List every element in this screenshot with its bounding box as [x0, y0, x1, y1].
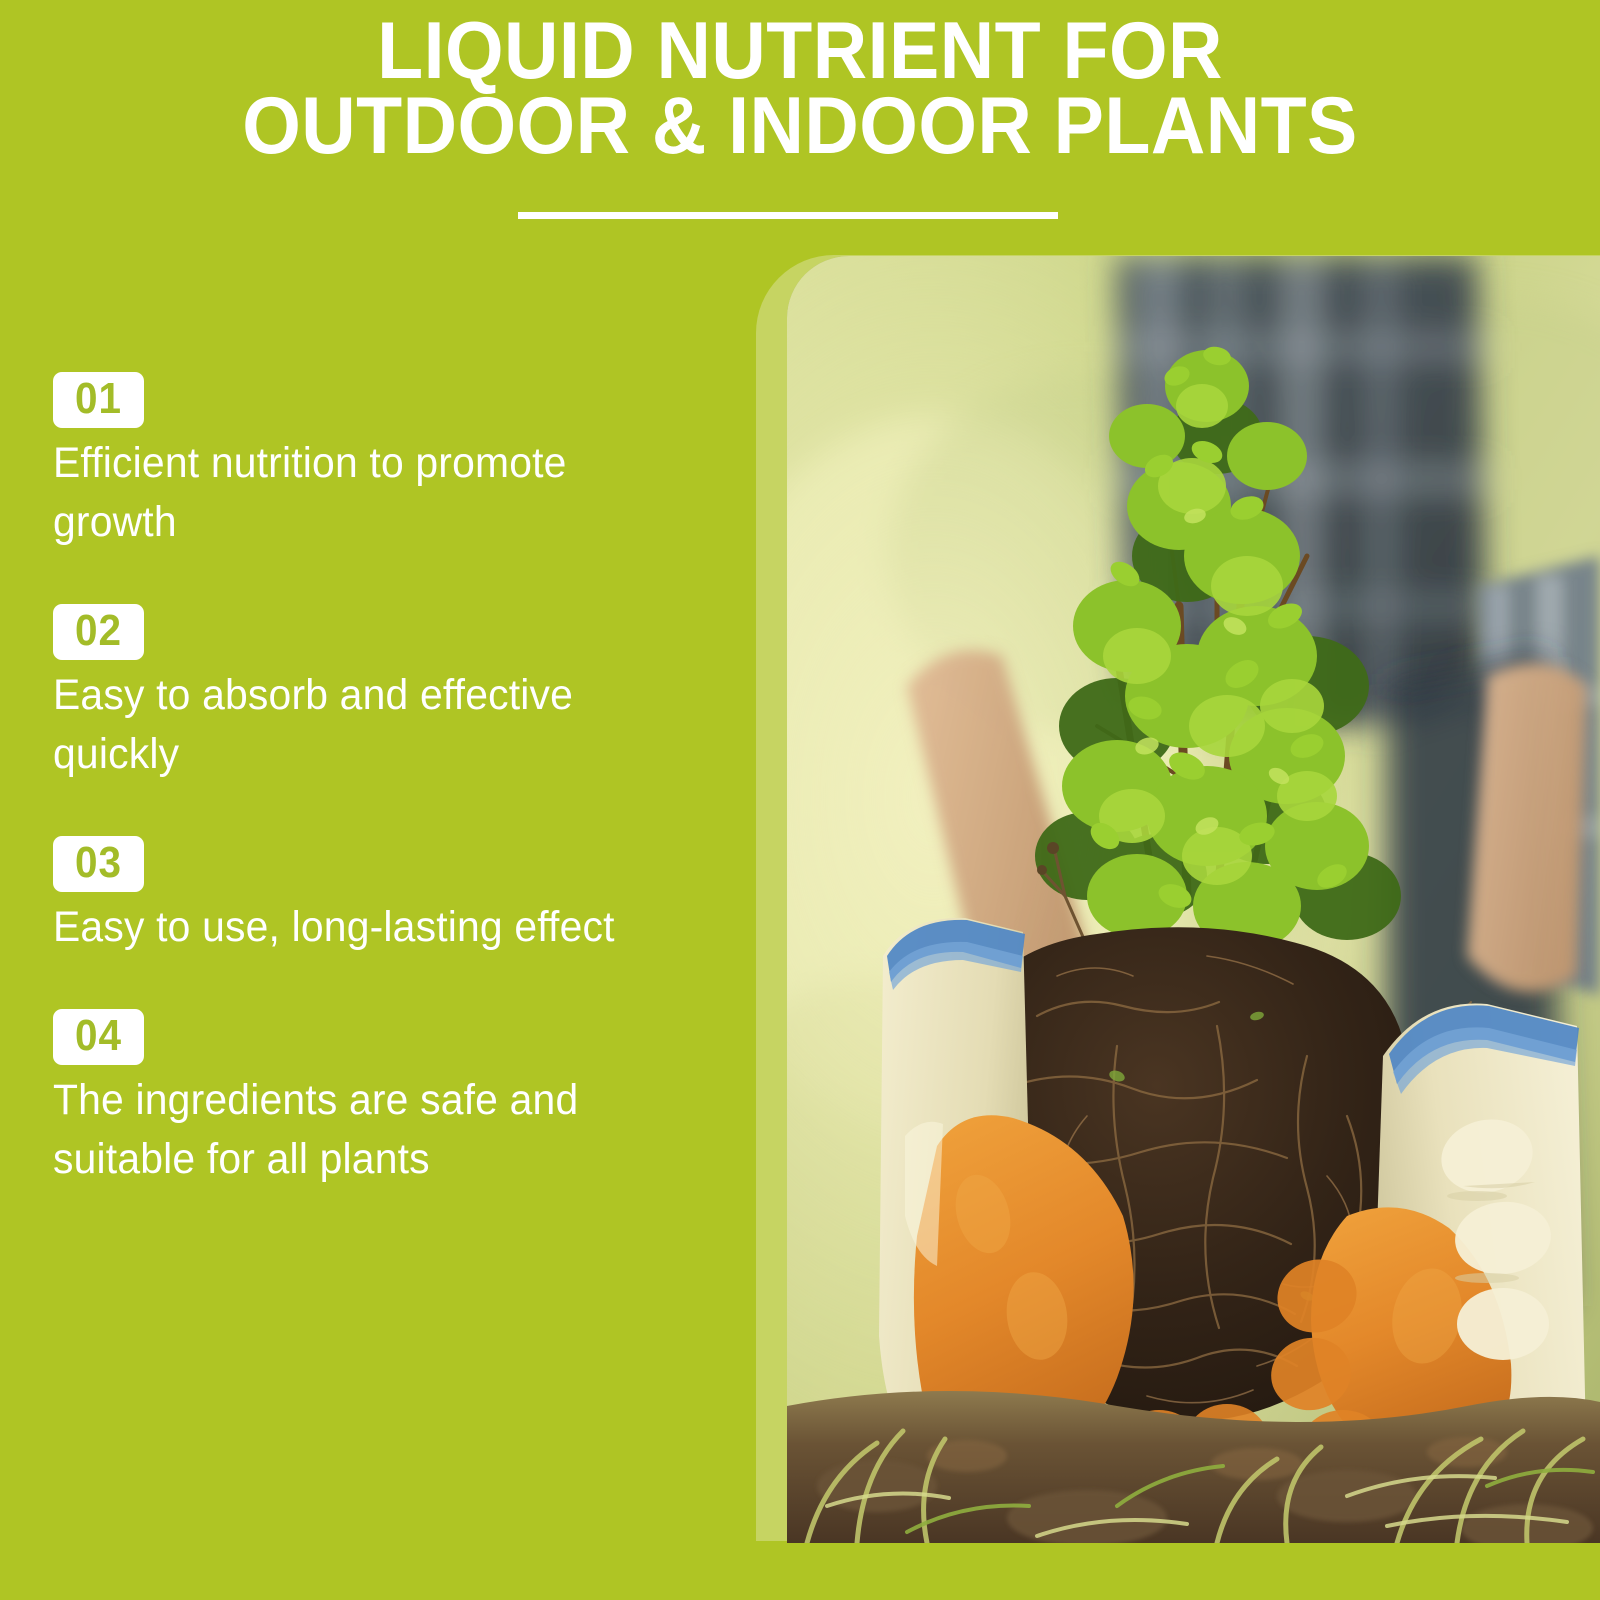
feature-number-02: 02 [75, 609, 122, 653]
feature-number-01: 01 [75, 377, 122, 421]
title-line-1: LIQUID NUTRIENT FOR [56, 14, 1544, 89]
feature-number-03: 03 [75, 841, 122, 885]
feature-text-01: Efficient nutrition to promote growth [53, 434, 680, 552]
feature-text-02: Easy to absorb and effective quickly [53, 666, 680, 784]
feature-item-01: 01 Efficient nutrition to promote growth [53, 372, 713, 552]
feature-badge-02: 02 [53, 604, 144, 660]
feature-number-04: 04 [75, 1014, 122, 1058]
feature-item-02: 02 Easy to absorb and effective quickly [53, 604, 713, 784]
feature-badge-01: 01 [53, 372, 144, 428]
feature-text-04: The ingredients are safe and suitable fo… [53, 1071, 680, 1189]
product-photo [787, 256, 1600, 1543]
feature-list: 01 Efficient nutrition to promote growth… [53, 372, 713, 1189]
product-infographic-poster: LIQUID NUTRIENT FOR OUTDOOR & INDOOR PLA… [0, 0, 1600, 1600]
title-divider-rule [518, 212, 1058, 219]
feature-badge-04: 04 [53, 1009, 144, 1065]
poster-title: LIQUID NUTRIENT FOR OUTDOOR & INDOOR PLA… [0, 14, 1600, 164]
feature-text-03: Easy to use, long-lasting effect [53, 898, 680, 957]
feature-item-04: 04 The ingredients are safe and suitable… [53, 1009, 713, 1189]
feature-item-03: 03 Easy to use, long-lasting effect [53, 836, 713, 957]
feature-badge-03: 03 [53, 836, 144, 892]
title-line-2: OUTDOOR & INDOOR PLANTS [56, 89, 1544, 164]
